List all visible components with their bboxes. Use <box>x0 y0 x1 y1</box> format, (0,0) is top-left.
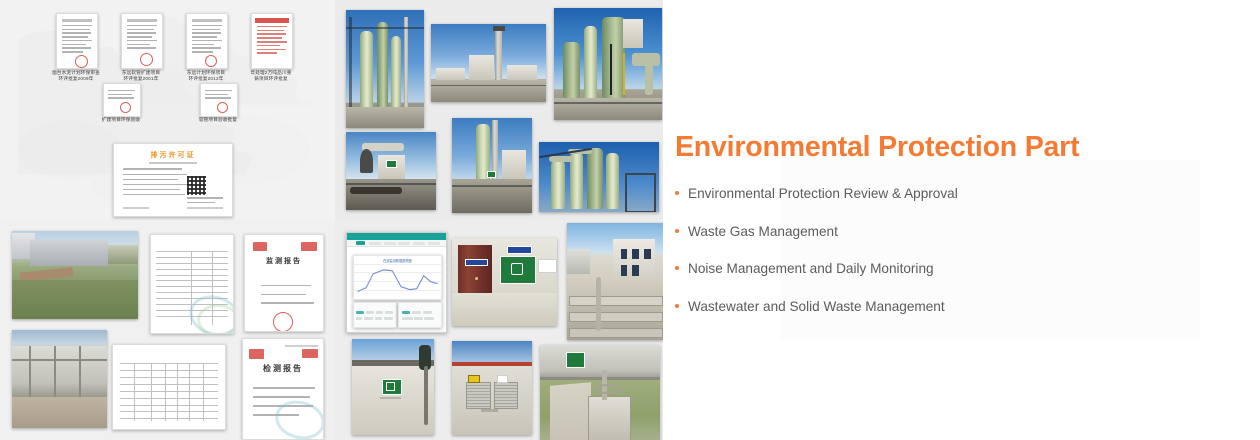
photo-louvered-waste-depot[interactable] <box>452 341 532 435</box>
dashboard-tab[interactable] <box>384 242 396 245</box>
slide-root: 烟台水泥计划环保审查 环评批复2009年 东远软管扩建项目 环评批复2001年 <box>0 0 1260 440</box>
bullet-item-0: Environmental Protection Review & Approv… <box>675 186 1145 202</box>
document-caption: 软管项目验收批复 <box>189 117 247 123</box>
dashboard-panel-left <box>353 302 397 328</box>
photo-collage: 烟台水泥计划环保审查 环评批复2009年 东远软管扩建项目 环评批复2001年 <box>0 0 663 440</box>
document-caption: 东远软管扩建项目 环评批复2001年 <box>113 70 169 82</box>
monitoring-line-chart: 在线监测数据趋势图 <box>353 255 442 301</box>
monitoring-dashboard-window[interactable]: 在线监测数据趋势图 <box>346 232 447 333</box>
collage-panel-waste-gas-photos <box>335 0 663 220</box>
bullet-dot-icon <box>675 229 679 233</box>
report-title: 检测报告 <box>243 363 323 374</box>
document-thumb[interactable] <box>186 13 228 69</box>
bullet-label: Wastewater and Solid Waste Management <box>688 299 945 315</box>
bullet-item-3: Wastewater and Solid Waste Management <box>675 299 1145 315</box>
bullet-item-2: Noise Management and Daily Monitoring <box>675 261 1145 277</box>
photo-sound-insulation-wall[interactable] <box>12 330 107 428</box>
photo-fiberglass-scrubbers[interactable] <box>554 8 662 120</box>
photo-exhaust-stack-plant[interactable] <box>431 24 546 102</box>
photo-waste-room-exterior[interactable] <box>352 339 434 435</box>
bullet-dot-icon <box>675 266 679 270</box>
document-caption: 年处理2万吨品川重 铸项目环评批复 <box>243 70 299 82</box>
photo-hazardous-waste-storage-door[interactable] <box>452 238 557 326</box>
dashboard-tab[interactable] <box>398 242 410 245</box>
dashboard-tab-active[interactable] <box>356 241 365 245</box>
discharge-permit-thumb[interactable]: 排污许可证 <box>113 143 233 217</box>
dashboard-panel-right <box>398 302 442 328</box>
bullet-dot-icon <box>675 191 679 195</box>
dashboard-tab[interactable] <box>428 242 440 245</box>
collage-panel-wastewater-solid-waste: 在线监测数据趋势图 <box>335 220 663 440</box>
report-measurement-table[interactable] <box>112 344 226 430</box>
document-caption: 东远计划环保项目 环评批复2012年 <box>178 70 234 82</box>
chart-caption: 在线监测数据趋势图 <box>354 258 441 263</box>
dashboard-tabbar[interactable] <box>347 240 446 247</box>
document-caption: 烟台水泥计划环保审查 环评批复2009年 <box>48 70 104 82</box>
document-thumb[interactable] <box>200 83 238 117</box>
bullet-label: Noise Management and Daily Monitoring <box>688 261 934 277</box>
collage-panel-noise-monitoring: 监测报告 <box>0 220 335 440</box>
bullet-list: Environmental Protection Review & Approv… <box>675 186 1145 336</box>
permit-title: 排污许可证 <box>114 150 232 160</box>
bullet-dot-icon <box>675 304 679 308</box>
photo-wastewater-treatment-basins[interactable] <box>567 223 663 340</box>
photo-scrubber-column-array[interactable] <box>539 142 659 212</box>
document-thumb-red[interactable] <box>251 13 293 69</box>
dashboard-tab[interactable] <box>413 242 425 245</box>
report-table <box>120 363 219 420</box>
photo-scrubber-towers[interactable] <box>346 10 424 128</box>
document-thumb[interactable] <box>56 13 98 69</box>
report-data-sheet[interactable] <box>150 234 234 334</box>
photo-discharge-outlet-weir[interactable] <box>540 345 660 440</box>
bullet-item-1: Waste Gas Management <box>675 224 1145 240</box>
report-title: 监测报告 <box>245 256 323 266</box>
bullet-label: Environmental Protection Review & Approv… <box>688 186 958 202</box>
monitoring-report-cover[interactable]: 监测报告 <box>244 234 324 332</box>
dashboard-tab[interactable] <box>369 242 381 245</box>
collage-panel-approval-documents: 烟台水泥计划环保审查 环评批复2009年 东远软管扩建项目 环评批复2001年 <box>0 0 335 220</box>
photo-rooftop-duct-fan[interactable] <box>346 132 436 210</box>
document-caption: 扩建项目环保验收 <box>92 117 150 123</box>
window-titlebar <box>347 233 446 240</box>
test-report-cover[interactable]: 检测报告 <box>242 338 324 440</box>
page-title: Environmental Protection Part <box>675 131 1079 164</box>
content-pane: Environmental Protection Part Environmen… <box>663 0 1260 440</box>
document-thumb[interactable] <box>103 83 141 117</box>
bullet-label: Waste Gas Management <box>688 224 838 240</box>
document-thumb[interactable] <box>121 13 163 69</box>
photo-noise-barrier-wall-garden[interactable] <box>12 231 138 319</box>
photo-absorption-tower[interactable] <box>452 118 532 213</box>
